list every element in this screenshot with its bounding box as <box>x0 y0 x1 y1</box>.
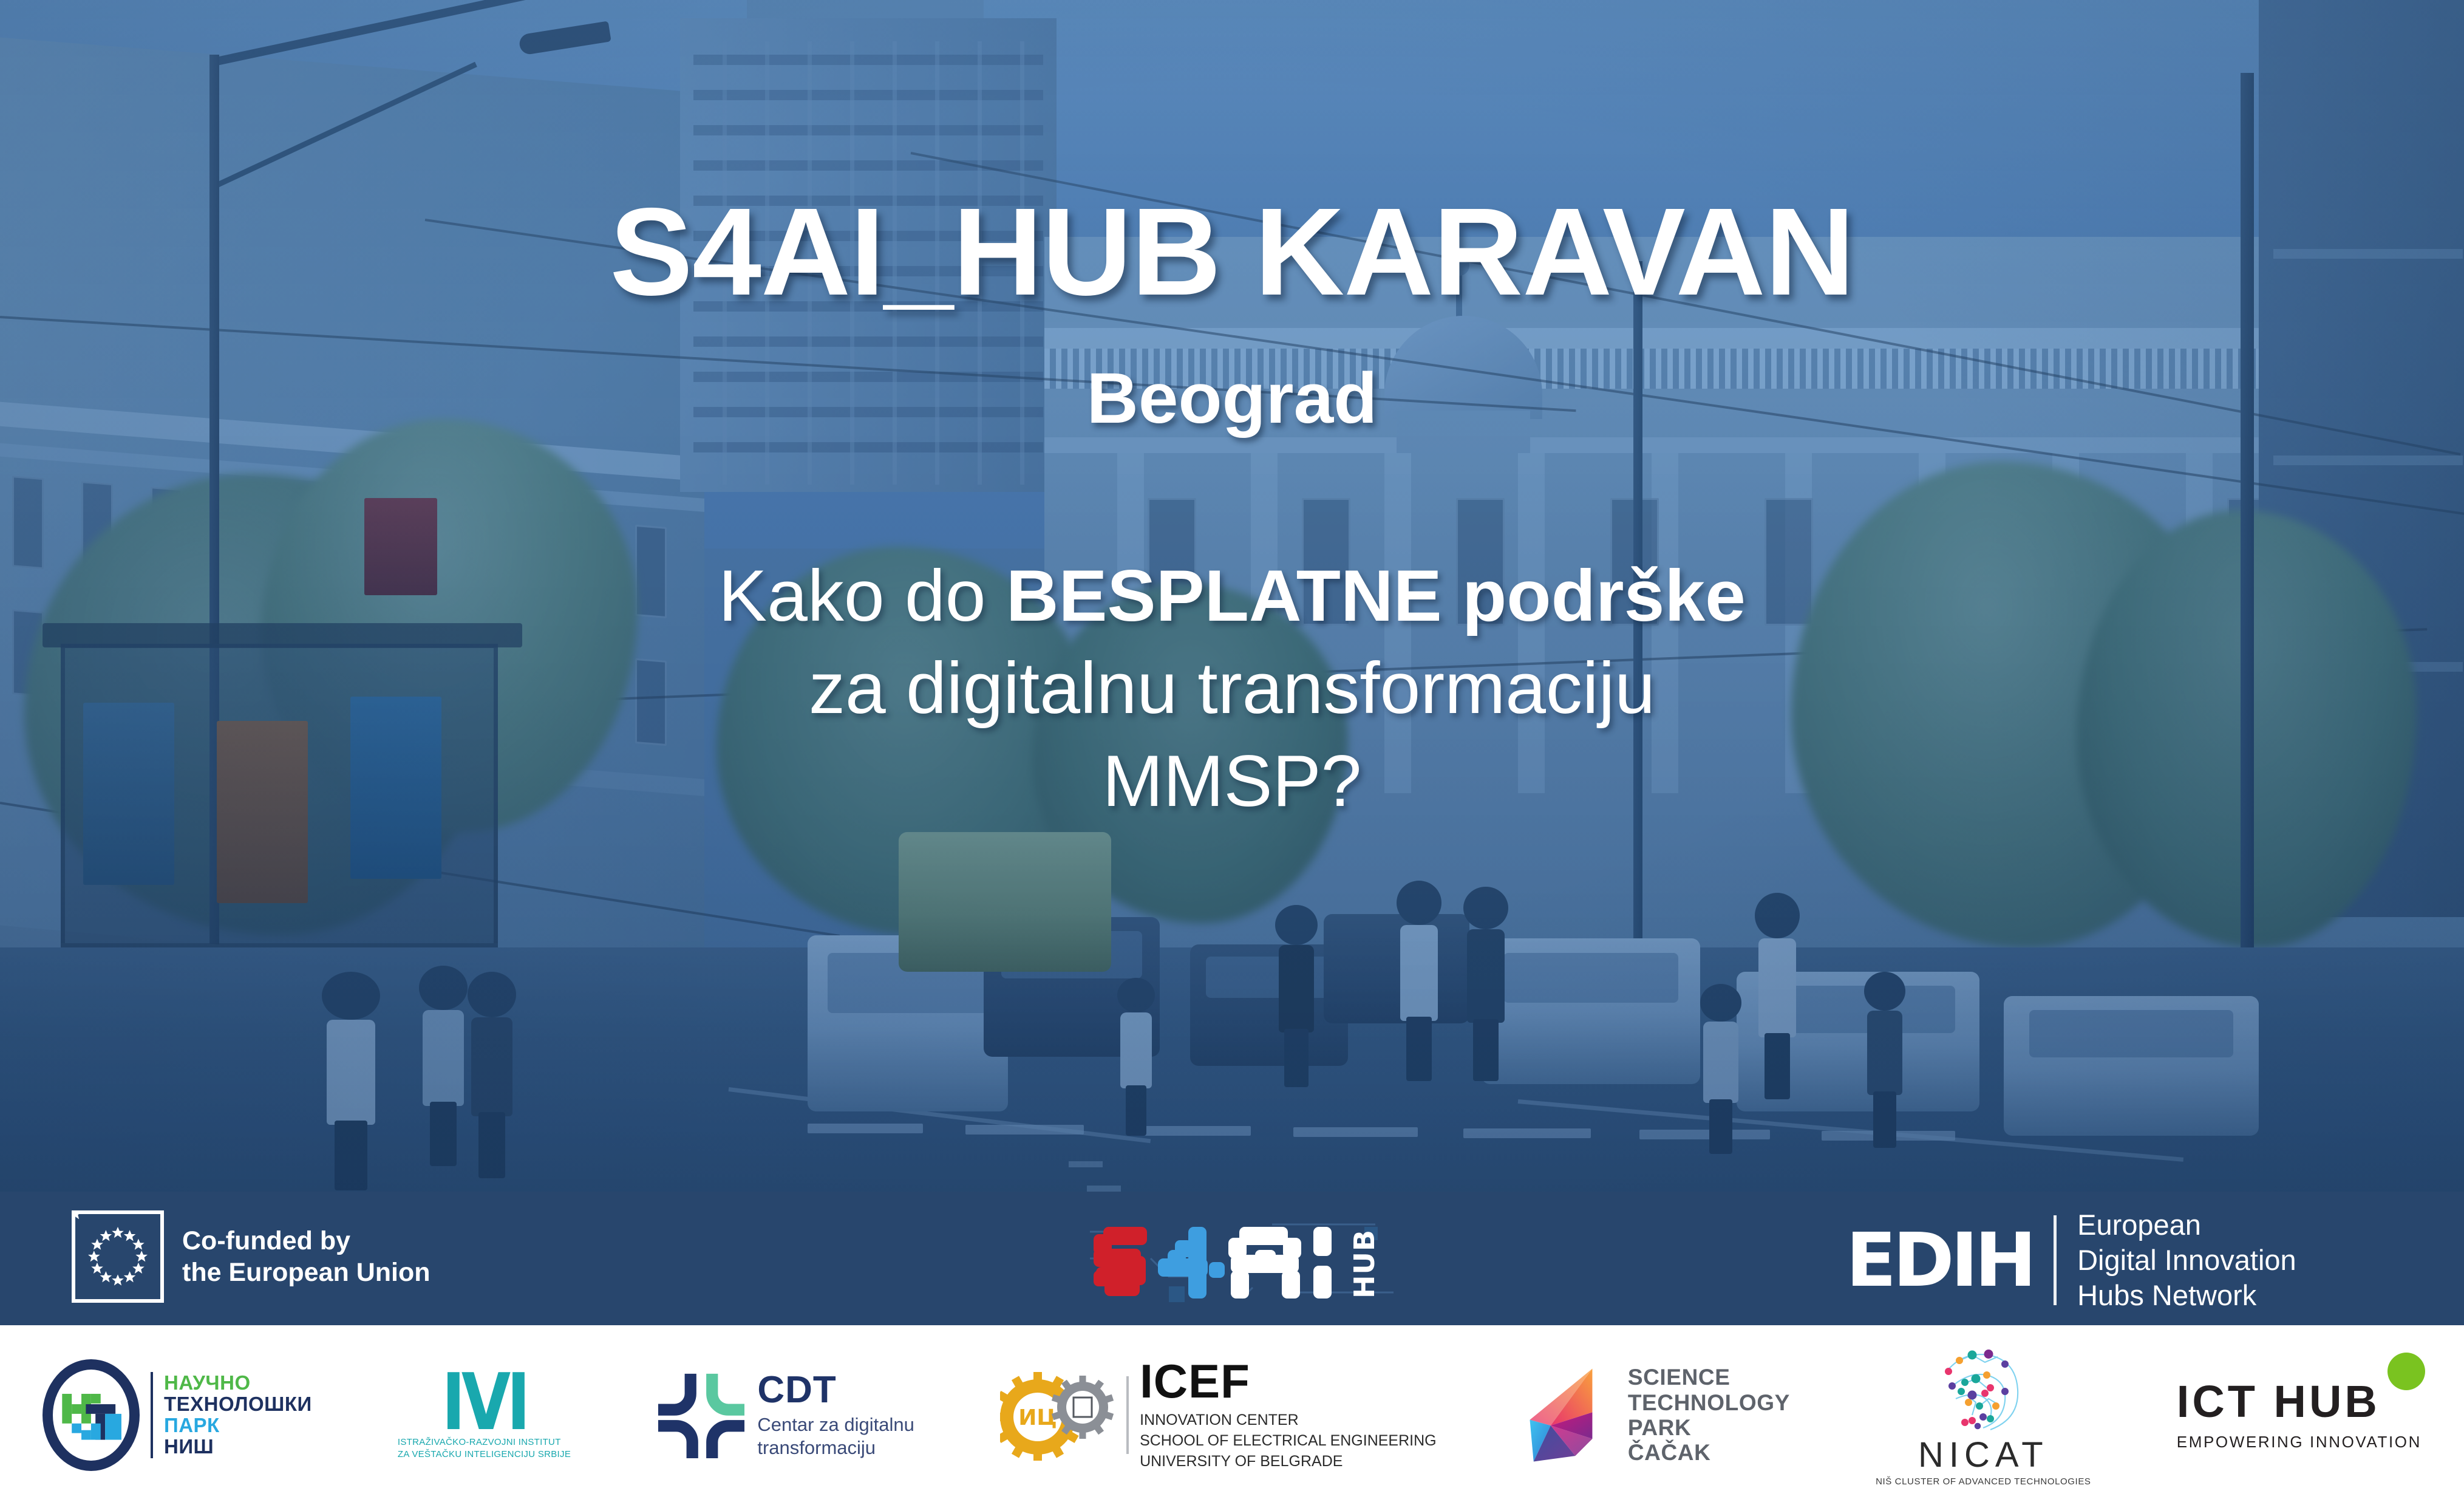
eu-cofunding-logo: Co-funded by the European Union <box>72 1210 431 1303</box>
icef-line-3: UNIVERSITY OF BELGRADE <box>1140 1451 1437 1472</box>
cdt-mark: CDT <box>757 1371 914 1409</box>
divider <box>2054 1215 2057 1305</box>
edih-wordmark: EDIH <box>1846 1226 2033 1294</box>
cdt-wordmark: CDT Centar za digitalnu transformaciju <box>757 1371 914 1459</box>
edih-line-1: European <box>2077 1207 2296 1243</box>
tagline-plain: Kako do <box>718 555 1006 636</box>
edih-line-2: Digital Innovation <box>2077 1243 2296 1278</box>
tagline-line-3: MMSP? <box>718 735 1746 827</box>
edih-line-3: Hubs Network <box>2077 1278 2296 1313</box>
svg-text:HUB: HUB <box>1348 1229 1381 1299</box>
icef-wordmark: ICEF INNOVATION CENTER SCHOOL OF ELECTRI… <box>1140 1359 1437 1471</box>
cdt-cross-glyph <box>656 1370 746 1460</box>
tagline-bold: BESPLATNE podrške <box>1006 555 1746 636</box>
ict-hub-dot-icon <box>2387 1353 2425 1390</box>
icef-line-1: INNOVATION CENTER <box>1140 1410 1437 1430</box>
icef-tagline: INNOVATION CENTER SCHOOL OF ELECTRICAL E… <box>1140 1410 1437 1472</box>
partner-logo-icef: ИЦ <box>1000 1359 1437 1471</box>
partner-logo-stp-cacak: SCIENCE TECHNOLOGY PARK ČAČAK <box>1522 1365 1790 1466</box>
icef-mark: ICEF <box>1140 1359 1437 1404</box>
ivi-line-2: ZA VEŠTAČKU INTELIGENCIJU SRBIJE <box>398 1449 571 1461</box>
stp-line-1: SCIENCE <box>1628 1365 1790 1390</box>
stp-line-4: ČAČAK <box>1628 1440 1790 1465</box>
nicat-tagline: NIŠ CLUSTER OF ADVANCED TECHNOLOGIES <box>1876 1476 2091 1487</box>
stp-line-3: PARK <box>1628 1415 1790 1440</box>
tagline-line-1: Kako do BESPLATNE podrške <box>718 550 1746 642</box>
tagline: Kako do BESPLATNE podrške za digitalnu t… <box>718 550 1746 827</box>
partner-logo-ivi: IVI ISTRAŽIVAČKO-RAZVOJNI INSTITUT ZA VE… <box>398 1370 571 1461</box>
icef-gears-glyph: ИЦ <box>1000 1370 1115 1461</box>
divider <box>1126 1376 1129 1454</box>
partner-logo-cdt: CDT Centar za digitalnu transformaciju <box>656 1370 914 1460</box>
icef-gear-letters: ИЦ <box>1018 1405 1057 1430</box>
ntp-line-2: ТЕХНОЛОШКИ <box>164 1394 312 1415</box>
nicat-network-glyph <box>1932 1344 2034 1435</box>
stp-line-2: TECHNOLOGY <box>1628 1390 1790 1415</box>
eu-line-2: the European Union <box>182 1257 431 1288</box>
ict-hub-tagline: EMPOWERING INNOVATION <box>2177 1433 2421 1452</box>
ntp-line-1: НАУЧНО <box>164 1373 312 1394</box>
eu-cofunding-text: Co-funded by the European Union <box>182 1225 431 1289</box>
ivi-wordmark: IVI <box>442 1370 527 1436</box>
cdt-line-2: transformaciju <box>757 1436 914 1459</box>
nicat-network-icon <box>1932 1344 2034 1435</box>
partner-logo-strip: НАУЧНО ТЕХНОЛОШКИ ПАРК НИШ IVI ISTRAŽIVA… <box>0 1325 2464 1505</box>
cdt-cross-icon <box>656 1370 746 1460</box>
page-title: S4AI_HUB KARAVAN <box>610 188 1854 315</box>
poster-canvas: S4AI_HUB KARAVAN Beograd Kako do BESPLAT… <box>0 0 2464 1505</box>
ntp-line-3: ПАРК <box>164 1415 312 1436</box>
s4ai-hub-logo-icon: HUB <box>1090 1213 1394 1303</box>
partner-logo-nicat: NICAT NIŠ CLUSTER OF ADVANCED TECHNOLOGI… <box>1876 1344 2091 1487</box>
stp-wordmark: SCIENCE TECHNOLOGY PARK ČAČAK <box>1628 1365 1790 1466</box>
divider <box>151 1372 153 1458</box>
ntp-circle-icon <box>43 1359 140 1471</box>
s4ai-hub-logo: HUB <box>1090 1213 1394 1303</box>
cdt-line-1: Centar za digitalnu <box>757 1413 914 1436</box>
icef-gear-icon: ИЦ <box>1000 1370 1115 1461</box>
ict-hub-wordmark: ICT HUB <box>2177 1379 2380 1424</box>
stp-arrow-icon <box>1522 1365 1617 1466</box>
ntp-wordmark: НАУЧНО ТЕХНОЛОШКИ ПАРК НИШ <box>164 1373 312 1458</box>
cdt-tagline: Centar za digitalnu transformaciju <box>757 1413 914 1459</box>
ntp-line-4: НИШ <box>164 1436 312 1458</box>
icef-line-2: SCHOOL OF ELECTRICAL ENGINEERING <box>1140 1430 1437 1451</box>
edih-tagline: European Digital Innovation Hubs Network <box>2077 1207 2296 1312</box>
ntp-monogram-icon <box>58 1380 132 1455</box>
edih-logo: EDIH European Digital Innovation Hubs Ne… <box>1846 1207 2296 1312</box>
nicat-wordmark: NICAT <box>1918 1438 2049 1473</box>
tagline-line-2: za digitalnu transformaciju <box>718 642 1746 734</box>
city-subtitle: Beograd <box>1087 363 1378 434</box>
headline-layer: S4AI_HUB KARAVAN Beograd Kako do BESPLAT… <box>0 0 2464 1192</box>
eu-stars-icon <box>75 1214 160 1299</box>
partner-logo-ntp-nis: НАУЧНО ТЕХНОЛОШКИ ПАРК НИШ <box>43 1359 312 1471</box>
partner-logo-ict-hub: ICT HUB EMPOWERING INNOVATION <box>2177 1379 2421 1452</box>
eu-line-1: Co-funded by <box>182 1225 431 1257</box>
stp-arrow-glyph <box>1522 1365 1617 1466</box>
eu-flag-icon <box>72 1210 164 1303</box>
